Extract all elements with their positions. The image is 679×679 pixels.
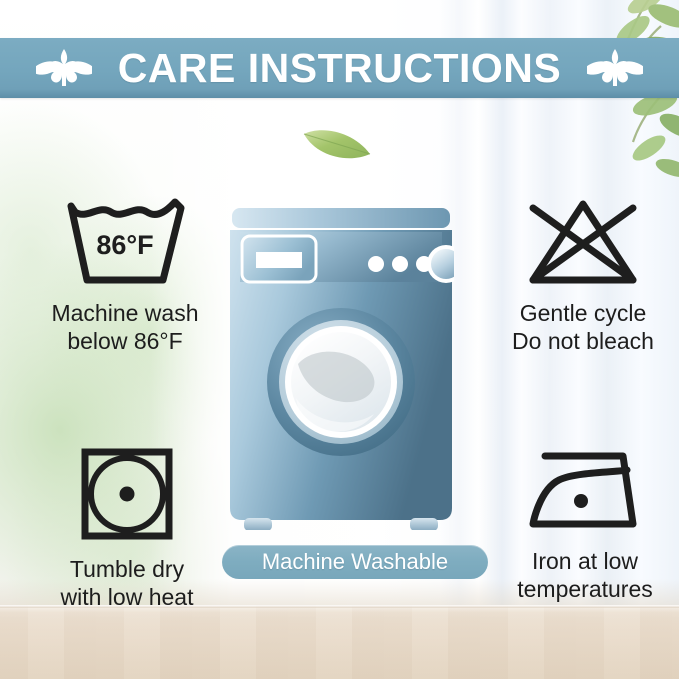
care-caption-do-not-bleach: Gentle cycle Do not bleach	[512, 299, 654, 355]
caption-line-2: temperatures	[517, 575, 653, 603]
wash-tub-icon: 86°F	[63, 196, 187, 293]
caption-line-2: Do not bleach	[512, 327, 654, 355]
machine-washable-badge: Machine Washable	[222, 545, 488, 579]
caption-line-2: below 86°F	[51, 327, 198, 355]
care-caption-iron: Iron at low temperatures	[517, 547, 653, 603]
care-item-do-not-bleach: Gentle cycle Do not bleach	[488, 196, 678, 355]
care-instructions-graphic: CARE INSTRUCTIONS 86°F Machine wash belo…	[0, 0, 679, 679]
fleur-de-lis-icon-left	[36, 46, 92, 90]
care-item-tumble-dry: Tumble dry with low heat	[34, 446, 220, 611]
washing-machine-illustration	[228, 208, 454, 530]
page-title: CARE INSTRUCTIONS	[118, 48, 562, 89]
caption-line-1: Iron at low	[517, 547, 653, 575]
fleur-de-lis-icon-right	[587, 46, 643, 90]
floating-leaf-icon	[300, 120, 374, 166]
caption-line-1: Tumble dry	[61, 555, 194, 583]
header-banner: CARE INSTRUCTIONS	[0, 38, 679, 98]
tumble-dry-low-icon	[77, 446, 177, 549]
wood-table-surface	[0, 605, 679, 679]
care-caption-machine-wash: Machine wash below 86°F	[51, 299, 198, 355]
care-item-machine-wash: 86°F Machine wash below 86°F	[30, 196, 220, 355]
badge-label: Machine Washable	[262, 551, 448, 573]
triangle-crossed-out-icon	[521, 196, 645, 293]
care-item-iron-low: Iron at low temperatures	[490, 446, 679, 603]
wash-temperature-value: 86°F	[96, 230, 153, 260]
caption-line-1: Gentle cycle	[512, 299, 654, 327]
caption-line-2: with low heat	[61, 583, 194, 611]
care-caption-tumble-dry: Tumble dry with low heat	[61, 555, 194, 611]
iron-one-dot-icon	[523, 446, 647, 541]
caption-line-1: Machine wash	[51, 299, 198, 327]
